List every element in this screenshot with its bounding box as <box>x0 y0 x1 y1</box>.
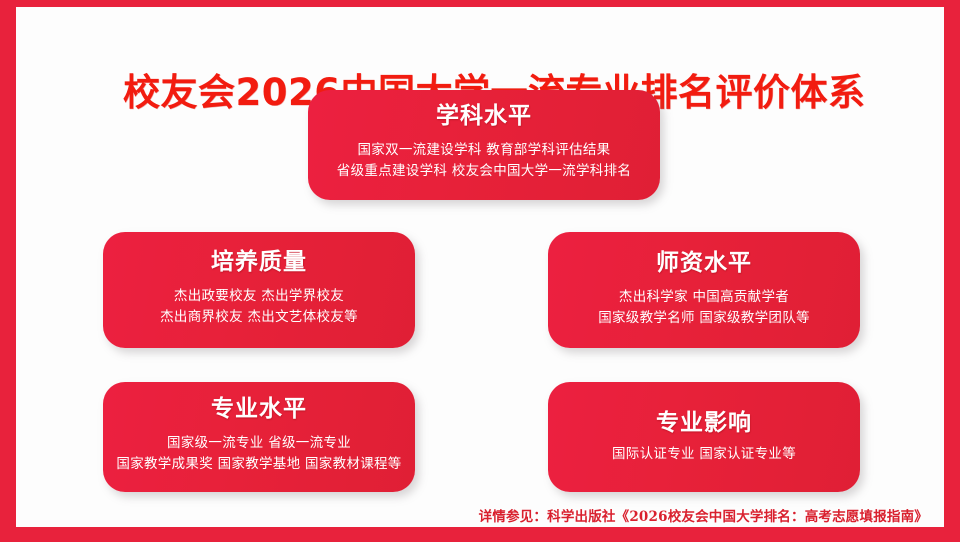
poster-frame: 校友会2026中国大学一流专业排名评价体系 学科水平 国家双一流建设学科 教育部… <box>0 0 960 542</box>
criteria-card-faculty-level: 师资水平 杰出科学家 中国高贡献学者 国家级教学名师 国家级教学团队等 <box>548 232 860 348</box>
card-title: 师资水平 <box>656 251 752 276</box>
card-title: 培养质量 <box>211 250 307 275</box>
card-body: 国家级一流专业 省级一流专业 国家教学成果奖 国家教学基地 国家教材课程等 <box>116 433 401 475</box>
card-title: 专业影响 <box>656 411 752 436</box>
card-body: 国际认证专业 国家认证专业等 <box>612 444 796 465</box>
criteria-card-training-quality: 培养质量 杰出政要校友 杰出学界校友 杰出商界校友 杰出文艺体校友等 <box>103 232 415 348</box>
card-title: 学科水平 <box>436 104 532 129</box>
card-body: 杰出政要校友 杰出学界校友 杰出商界校友 杰出文艺体校友等 <box>160 286 358 328</box>
criteria-card-major-level: 专业水平 国家级一流专业 省级一流专业 国家教学成果奖 国家教学基地 国家教材课… <box>103 382 415 492</box>
card-body: 杰出科学家 中国高贡献学者 国家级教学名师 国家级教学团队等 <box>598 287 810 329</box>
card-title: 专业水平 <box>211 397 307 422</box>
poster-canvas: 校友会2026中国大学一流专业排名评价体系 学科水平 国家双一流建设学科 教育部… <box>16 7 944 527</box>
source-note: 详情参见：科学出版社《2026校友会中国大学排名：高考志愿填报指南》 <box>479 505 928 525</box>
criteria-card-discipline-level: 学科水平 国家双一流建设学科 教育部学科评估结果 省级重点建设学科 校友会中国大… <box>308 90 660 200</box>
criteria-card-major-influence: 专业影响 国际认证专业 国家认证专业等 <box>548 382 860 492</box>
card-body: 国家双一流建设学科 教育部学科评估结果 省级重点建设学科 校友会中国大学一流学科… <box>337 140 631 182</box>
